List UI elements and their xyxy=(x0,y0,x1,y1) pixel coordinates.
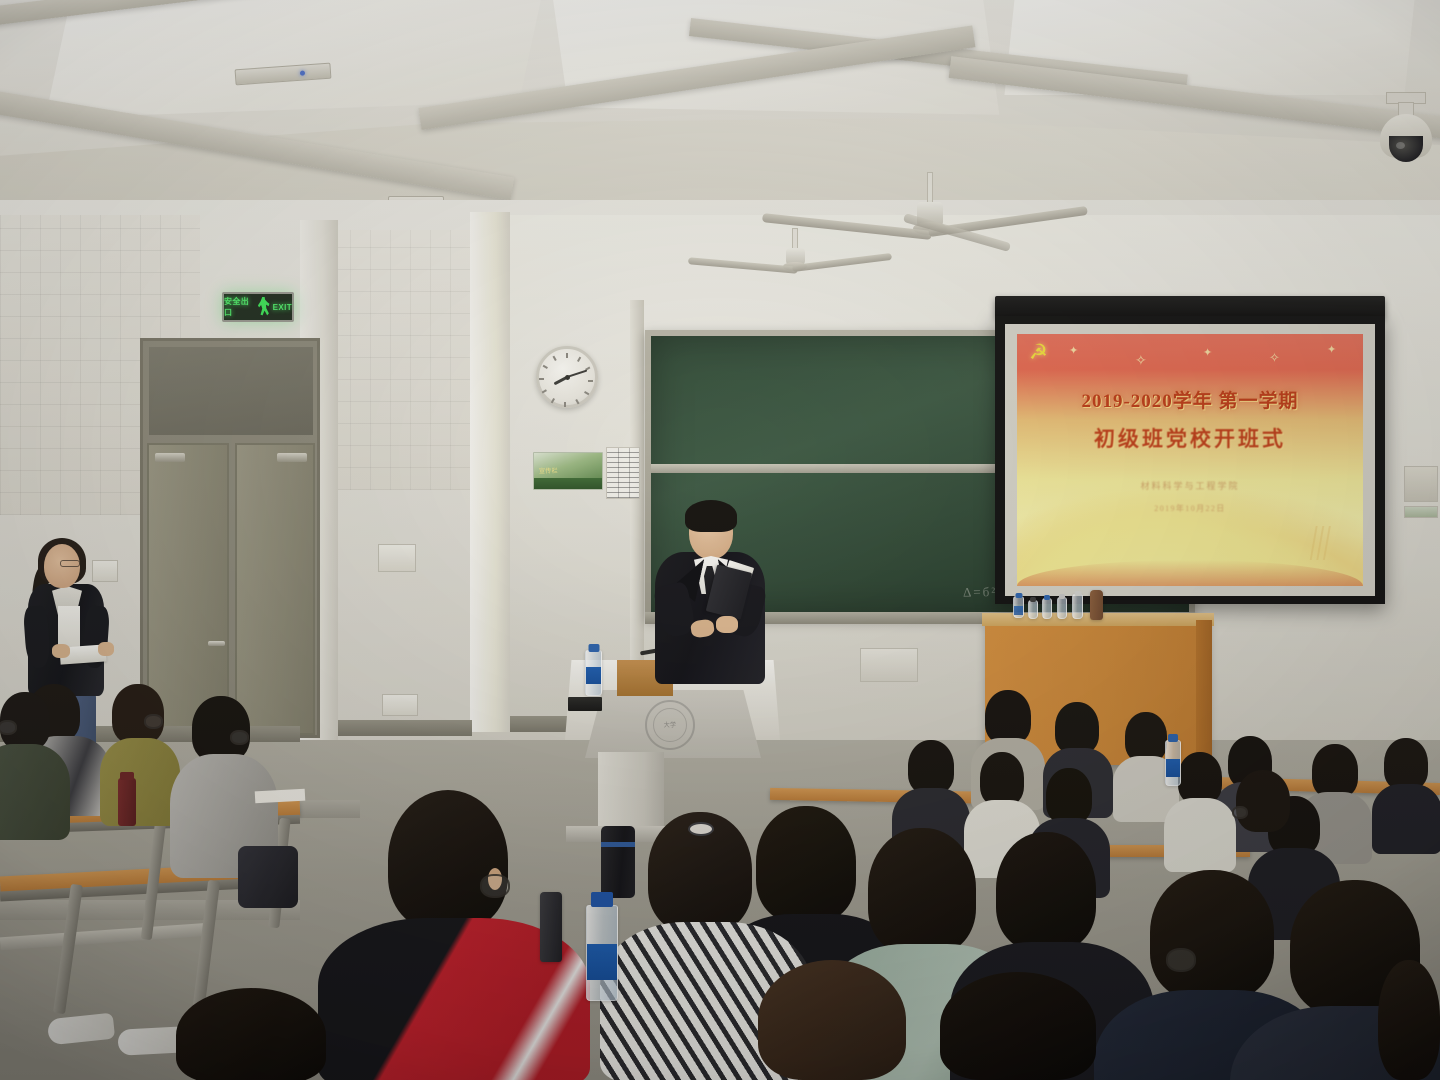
woman-hand xyxy=(52,644,70,658)
audience-person-foreground xyxy=(940,972,1096,1080)
fan-rod xyxy=(927,172,933,206)
person-hair xyxy=(980,752,1024,806)
wall-clock xyxy=(536,346,598,408)
person-hair xyxy=(1125,712,1167,762)
class-schedule-sheet xyxy=(606,447,640,499)
wall-pillar xyxy=(470,212,510,732)
lecture-hall-photo: 安全出口 EXIT 宣传栏 xyxy=(0,0,1440,1080)
bottle-cap xyxy=(1015,593,1022,598)
projector-screen: ☭ ✦ ✧ ✦ ✧ ✦ 2019-2020学年 第一学期 初级班党校开班式 材料… xyxy=(995,316,1385,604)
water-bottle xyxy=(1042,598,1052,619)
person-hair xyxy=(868,828,976,954)
person-torso xyxy=(100,738,180,826)
audience-person xyxy=(1178,752,1222,804)
wall-vent xyxy=(860,648,918,682)
exit-sign-label-cn: 安全出口 xyxy=(224,296,254,318)
door-closer xyxy=(277,453,307,462)
audience-person xyxy=(980,752,1024,806)
glasses-icon xyxy=(1166,948,1196,972)
audience-person-foreground xyxy=(996,832,1096,950)
glasses-icon xyxy=(1232,806,1248,819)
panel-label xyxy=(1404,506,1438,518)
thermos-flask xyxy=(1090,590,1103,620)
water-bottle xyxy=(1165,740,1181,786)
ceiling-fan xyxy=(830,172,1030,252)
wall-box xyxy=(382,694,418,716)
presentation-slide: ☭ ✦ ✧ ✦ ✧ ✦ 2019-2020学年 第一学期 初级班党校开班式 材料… xyxy=(1017,334,1363,586)
audience-person xyxy=(908,740,954,794)
water-bottle xyxy=(1013,596,1024,618)
slide-sparkle-icon: ✦ xyxy=(1327,343,1336,356)
ceiling-fan xyxy=(730,228,860,283)
person-hair xyxy=(192,696,250,762)
thermos-cap xyxy=(120,772,134,780)
wall-box xyxy=(378,544,416,572)
thermos-flask xyxy=(540,892,562,962)
slide-subtitle: 材料科学与工程学院 xyxy=(1140,479,1239,492)
thermos-flask xyxy=(118,778,136,826)
person-hair xyxy=(908,740,954,794)
water-bottle xyxy=(585,650,602,696)
person-hair xyxy=(1236,770,1290,832)
person-hair xyxy=(996,832,1096,950)
person-hair xyxy=(940,972,1096,1080)
bottle-label xyxy=(1166,759,1180,777)
bottle-cap xyxy=(1059,594,1065,599)
bottle-cap xyxy=(588,644,599,652)
audience-person xyxy=(0,692,50,750)
slide-decoration xyxy=(1285,526,1345,560)
audience-person-foreground xyxy=(758,960,906,1080)
poster-label: 宣传栏 xyxy=(539,466,558,475)
bottle-cap xyxy=(1168,734,1178,742)
bottle-cap xyxy=(1044,595,1050,600)
person-hair xyxy=(1312,744,1358,798)
exit-sign-label-en: EXIT xyxy=(273,303,292,312)
slide-sparkle-icon: ✦ xyxy=(1069,344,1078,357)
running-man-icon xyxy=(256,297,270,317)
security-camera-icon xyxy=(1380,114,1432,158)
baseboard xyxy=(338,720,472,736)
slide-sparkle-icon: ✧ xyxy=(1269,350,1280,366)
speaker-hand xyxy=(716,616,738,633)
fan-rod xyxy=(792,228,798,250)
university-emblem: 大学 xyxy=(645,700,695,750)
person-torso xyxy=(1164,798,1236,872)
bottle-cap xyxy=(1074,591,1081,596)
power-outlet[interactable] xyxy=(92,560,118,582)
audience-person-foreground xyxy=(176,988,326,1080)
person-hair xyxy=(176,988,326,1080)
person-hair xyxy=(758,960,906,1080)
projector-screen-surface: ☭ ✦ ✧ ✦ ✧ ✦ 2019-2020学年 第一学期 初级班党校开班式 材料… xyxy=(1005,324,1375,596)
wall-poster: 宣传栏 xyxy=(533,452,603,490)
person-hair xyxy=(1046,768,1092,824)
slide-title-line2: 初级班党校开班式 xyxy=(1094,423,1286,453)
bluetooth-speaker[interactable] xyxy=(601,826,635,898)
bottle-label xyxy=(586,667,601,684)
person-torso xyxy=(1372,784,1440,854)
water-bottle xyxy=(1057,597,1067,619)
audience-person xyxy=(192,696,250,762)
person-hair xyxy=(1178,752,1222,804)
speaker-light-ring xyxy=(601,842,635,847)
slide-sparkle-icon: ✧ xyxy=(1135,352,1147,369)
bottle-label xyxy=(1014,606,1023,615)
water-bottle xyxy=(1028,600,1038,619)
poster-base xyxy=(534,478,602,489)
slide-title-line1: 2019-2020学年 第一学期 xyxy=(1081,386,1298,413)
audience-person-foreground xyxy=(1378,960,1440,1080)
door-handle[interactable] xyxy=(208,641,225,646)
teacher-desk-side xyxy=(1196,620,1212,765)
audience-person-foreground xyxy=(868,828,976,954)
bottle-label xyxy=(587,944,617,980)
person-hair xyxy=(1384,738,1428,790)
audience-person xyxy=(985,690,1031,744)
audience-person xyxy=(1055,702,1099,754)
slide-date: 2019年10月22日 xyxy=(1154,503,1225,514)
hammer-and-sickle-icon: ☭ xyxy=(1029,342,1061,366)
person-hair xyxy=(1055,702,1099,754)
audience-person-foreground xyxy=(1150,870,1274,1000)
water-bottle xyxy=(586,905,618,1001)
emergency-exit-sign: 安全出口 EXIT xyxy=(222,292,294,322)
hair-clip xyxy=(688,822,714,836)
glasses-icon xyxy=(144,714,163,729)
audience-person xyxy=(1312,744,1358,798)
wall-tile-panel xyxy=(330,230,475,490)
door-leaf-right[interactable] xyxy=(235,443,315,735)
glasses-icon xyxy=(480,874,510,898)
sensor-led xyxy=(300,70,305,75)
audience-person xyxy=(112,684,164,744)
woman-glasses-icon xyxy=(60,560,80,567)
woman-hand xyxy=(98,642,114,656)
audience-person xyxy=(1384,738,1428,790)
electrical-panel[interactable] xyxy=(1404,466,1438,502)
person-hair xyxy=(985,690,1031,744)
projector-screen-case xyxy=(995,296,1385,318)
audience-person-foreground xyxy=(756,806,856,922)
audience-person-foreground xyxy=(388,790,508,930)
university-emblem-label: 大学 xyxy=(647,720,693,729)
slide-sparkle-icon: ✦ xyxy=(1203,346,1212,359)
speaker-hair xyxy=(685,500,737,532)
glasses-icon xyxy=(230,730,249,745)
audience-person xyxy=(1236,770,1290,832)
lectern-control-panel[interactable] xyxy=(568,697,602,711)
classroom-door[interactable] xyxy=(140,338,320,738)
person-hair xyxy=(388,790,508,930)
person-jacket xyxy=(0,744,70,840)
glasses-icon xyxy=(0,720,17,735)
person-hair xyxy=(1378,960,1440,1080)
water-bottle xyxy=(1072,594,1083,619)
person-hair xyxy=(1150,870,1274,1000)
bottle-cap xyxy=(591,892,613,907)
clock-center-pin xyxy=(565,375,570,380)
clock-minute-hand xyxy=(567,370,588,378)
door-closer xyxy=(155,453,185,462)
bottle-cap xyxy=(1030,597,1036,602)
person-hair xyxy=(756,806,856,922)
audience-person xyxy=(1125,712,1167,762)
door-transom-window xyxy=(147,345,315,437)
backpack xyxy=(238,846,298,908)
audience-person xyxy=(1046,768,1092,824)
